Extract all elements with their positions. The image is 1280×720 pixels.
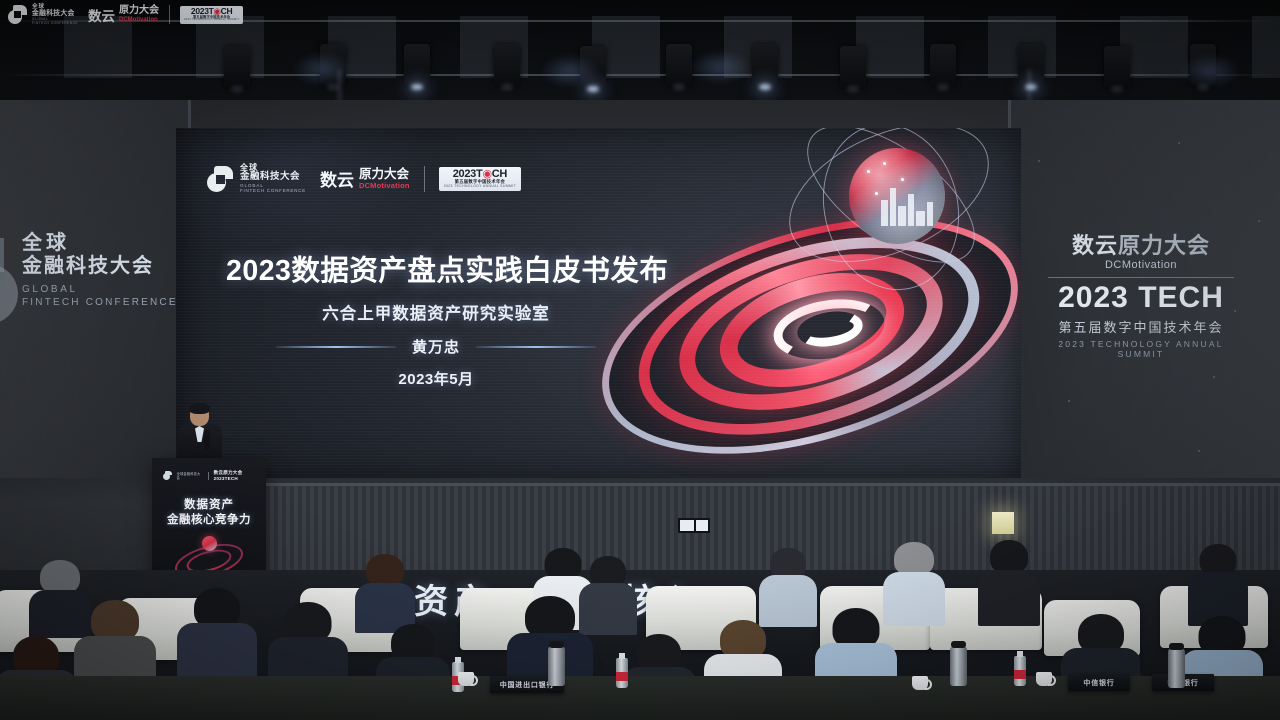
main-led-screen: 全球 金融科技大会 GLOBAL FINTECH CONFERENCE 数云 原… bbox=[176, 128, 1021, 480]
podium-headline-line1: 数据资产 bbox=[152, 496, 266, 512]
audience-person bbox=[580, 556, 636, 632]
lighting-truss bbox=[0, 16, 1280, 78]
watermark-badge-sub2: 2023 TECHNOLOGY ANNUAL SUMMIT bbox=[184, 19, 239, 22]
gfc-logo: 全球 金融科技大会 GLOBAL FINTECH CONFERENCE bbox=[207, 164, 306, 193]
audience-person bbox=[760, 548, 816, 624]
watermark-divider bbox=[169, 5, 170, 24]
table-cup bbox=[912, 676, 928, 690]
stage-light bbox=[224, 46, 250, 88]
left-wall-cn-line2: 金融科技大会 bbox=[22, 255, 187, 277]
badge-swirl-icon: ◉ bbox=[482, 168, 491, 180]
audience-person bbox=[980, 540, 1038, 622]
table-thermos bbox=[1168, 648, 1185, 688]
table-thermos bbox=[548, 646, 565, 686]
tech-year-badge: 2023T◉CH 第五届数字中国技术年会 2023 TECHNOLOGY ANN… bbox=[439, 167, 521, 191]
right-wall-cn-sub: 第五届数字中国技术年会 bbox=[1046, 317, 1236, 336]
table-microphone bbox=[1140, 658, 1143, 674]
speaker-person bbox=[178, 404, 222, 462]
dcm-cn-upper: 原力大会 bbox=[359, 168, 410, 181]
badge-year-post: CH bbox=[492, 168, 507, 180]
stage-light bbox=[840, 46, 866, 88]
podium-logo-cn: 全球金融科技大会 bbox=[177, 472, 203, 480]
stage-light bbox=[494, 44, 520, 86]
truss-bar-bottom bbox=[0, 74, 1280, 76]
podium-logo-dcm: 数云原力大会 2023TECH bbox=[214, 470, 266, 481]
nameplate-label: 中信银行 bbox=[1083, 678, 1114, 688]
right-wall-brand: 数云原力大会 DCMotivation 2023 TECH 第五届数字中国技术年… bbox=[1046, 228, 1236, 359]
watermark-dcm-en-lower: DCMotivation bbox=[119, 17, 159, 23]
table-cup bbox=[458, 672, 474, 686]
broadcast-watermark: 全球 金融科技大会 GLOBAL FINTECH CONFERENCE 数云 原… bbox=[8, 4, 243, 25]
watermark-dcm-cn-left: 数云 bbox=[88, 5, 115, 25]
dcmotivation-logo: 数云 原力大会 DCMotivation bbox=[320, 166, 410, 191]
watermark-tech-badge: 2023T◉CH 第五届数字中国技术年会 2023 TECHNOLOGY ANN… bbox=[180, 6, 243, 24]
light-glow bbox=[690, 50, 750, 84]
stage-slat-cap bbox=[258, 483, 1280, 486]
stage-light bbox=[930, 44, 956, 86]
stage-access-panel bbox=[678, 518, 710, 533]
podium: 全球金融科技大会 数云原力大会 2023TECH 数据资产 金融核心竞争力 bbox=[152, 458, 266, 580]
table-thermos bbox=[950, 646, 967, 686]
podium-headline-line2: 金融核心竞争力 bbox=[152, 511, 266, 527]
right-wall-en-title: DCMotivation bbox=[1046, 259, 1236, 271]
stage-light bbox=[1104, 46, 1130, 88]
stage-light bbox=[404, 44, 430, 86]
badge-year-pre: 2023 bbox=[453, 168, 476, 180]
podium-logo-lockup: 全球金融科技大会 数云原力大会 2023TECH bbox=[163, 470, 266, 481]
table-nameplate: 中信银行 bbox=[1068, 674, 1130, 691]
watermark-gfc-icon bbox=[8, 5, 27, 24]
dcm-en-lower: DCMotivation bbox=[359, 182, 410, 190]
audience-person bbox=[1190, 544, 1246, 622]
slide-logo-lockup: 全球 金融科技大会 GLOBAL FINTECH CONFERENCE 数云 原… bbox=[207, 164, 521, 193]
logo-divider bbox=[424, 166, 425, 192]
stage-light bbox=[666, 44, 692, 86]
watermark-gfc-en2: FINTECH CONFERENCE bbox=[32, 22, 78, 25]
audience-person bbox=[884, 542, 944, 622]
badge-sub2: 2023 TECHNOLOGY ANNUAL SUMMIT bbox=[444, 185, 516, 188]
light-glow bbox=[292, 52, 352, 86]
slide-title: 2023数据资产盘点实践白皮书发布 bbox=[226, 248, 646, 289]
watermark-dcm-logo: 数云 原力大会 DCMotivation bbox=[88, 5, 159, 25]
gfc-logo-icon bbox=[207, 166, 233, 192]
gfc-cn-line2: 金融科技大会 bbox=[240, 172, 306, 182]
right-wall-title-b: 原力大会 bbox=[1118, 233, 1210, 258]
right-wall-divider bbox=[1048, 277, 1234, 278]
conference-stage-scene: 全球 金融科技大会 GLOBAL FINTECH CONFERENCE 数云原力… bbox=[0, 0, 1280, 720]
nameplate-label: 中国进出口银行 bbox=[500, 680, 555, 690]
stage-light bbox=[1018, 44, 1044, 86]
right-wall-en-sub: 2023 TECHNOLOGY ANNUAL SUMMIT bbox=[1046, 339, 1236, 359]
table-microphone bbox=[600, 660, 603, 676]
watermark-gfc-logo: 全球 金融科技大会 GLOBAL FINTECH CONFERENCE bbox=[8, 4, 78, 25]
gfc-en-line2: FINTECH CONFERENCE bbox=[240, 189, 306, 194]
audience-person bbox=[356, 554, 414, 628]
screen-glow bbox=[176, 128, 436, 268]
water-bottle bbox=[616, 658, 628, 688]
slide-subtitle: 六合上甲数据资产研究实验室 bbox=[226, 300, 646, 324]
table-cup bbox=[1036, 672, 1052, 686]
stage-front-lamp bbox=[992, 512, 1014, 534]
right-wall-title-a: 数云 bbox=[1072, 233, 1118, 258]
podium-gfc-icon bbox=[163, 471, 172, 480]
left-wall-cn-line1: 全球 bbox=[22, 232, 187, 254]
slide-rule-right bbox=[476, 346, 596, 348]
right-wall-title: 数云原力大会 bbox=[1046, 228, 1236, 260]
city-skyline-icon bbox=[881, 182, 933, 226]
slide-speaker-name: 黄万忠 bbox=[412, 336, 460, 357]
light-glow bbox=[540, 54, 600, 88]
dcm-cn-left: 数云 bbox=[320, 166, 354, 191]
slide-rule-left bbox=[276, 346, 396, 348]
watermark-dcm-cn-upper: 原力大会 bbox=[119, 6, 159, 16]
left-wall-brand: 全球 金融科技大会 GLOBAL FINTECH CONFERENCE bbox=[22, 232, 187, 308]
left-wall-en-line1: GLOBAL bbox=[22, 284, 187, 295]
slide-date: 2023年5月 bbox=[226, 368, 646, 389]
globe-sphere bbox=[849, 148, 945, 244]
left-wall-en-line2: FINTECH CONFERENCE bbox=[22, 297, 187, 308]
watermark-gfc-cn2: 金融科技大会 bbox=[32, 10, 78, 17]
slide-speaker-row: 黄万忠 bbox=[226, 336, 646, 357]
right-wall-year: 2023 TECH bbox=[1046, 283, 1236, 313]
light-glow bbox=[1180, 54, 1240, 88]
water-bottle bbox=[1014, 656, 1026, 686]
stage-light bbox=[752, 44, 778, 86]
